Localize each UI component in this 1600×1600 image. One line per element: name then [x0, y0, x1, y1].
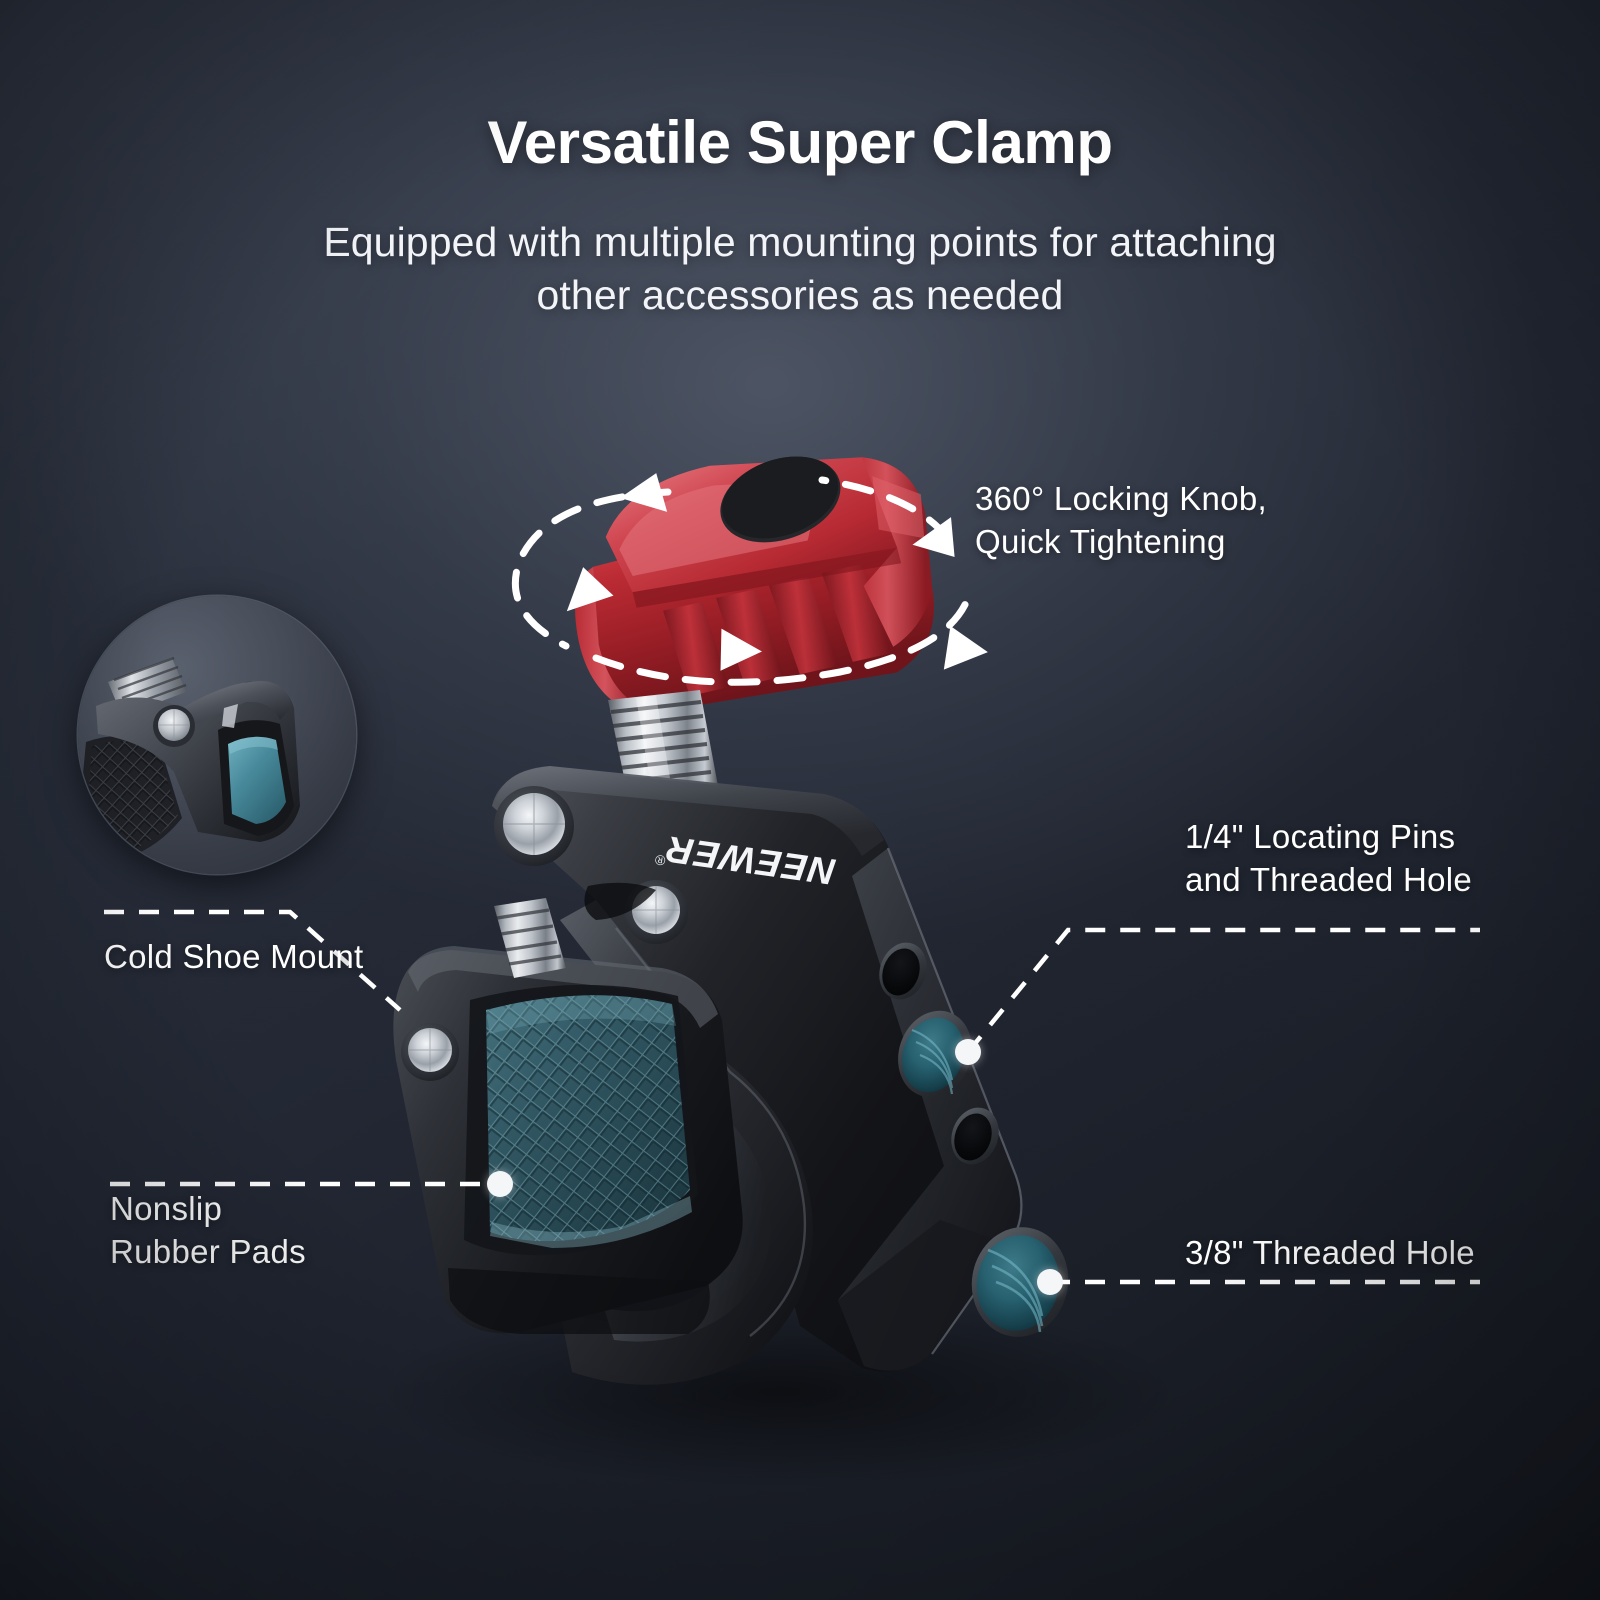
cold-shoe-mount-inset — [78, 596, 356, 874]
inset-screw — [153, 705, 195, 747]
callout-locking-knob: 360° Locking Knob, Quick Tightening — [975, 478, 1267, 564]
page-title: Versatile Super Clamp — [0, 108, 1600, 177]
locking-knob — [558, 431, 946, 721]
callout-three-eighth-hole: 3/8" Threaded Hole — [1185, 1232, 1475, 1275]
callout-quarter-inch-pins: 1/4" Locating Pins and Threaded Hole — [1185, 816, 1472, 902]
marker-dot-three-eighth — [1037, 1269, 1063, 1295]
infographic-background: NEEWER ® — [0, 0, 1600, 1600]
pivot-screw-upper — [494, 786, 574, 866]
pivot-screw-lower — [401, 1023, 459, 1081]
marker-dot-quarter — [955, 1039, 981, 1065]
page-subtitle: Equipped with multiple mounting points f… — [280, 216, 1320, 323]
callout-nonslip-rubber-pads: Nonslip Rubber Pads — [110, 1188, 306, 1274]
clamp-jaw — [393, 946, 742, 1334]
callout-cold-shoe-mount: Cold Shoe Mount — [104, 936, 364, 979]
marker-dot-rubber — [487, 1171, 513, 1197]
